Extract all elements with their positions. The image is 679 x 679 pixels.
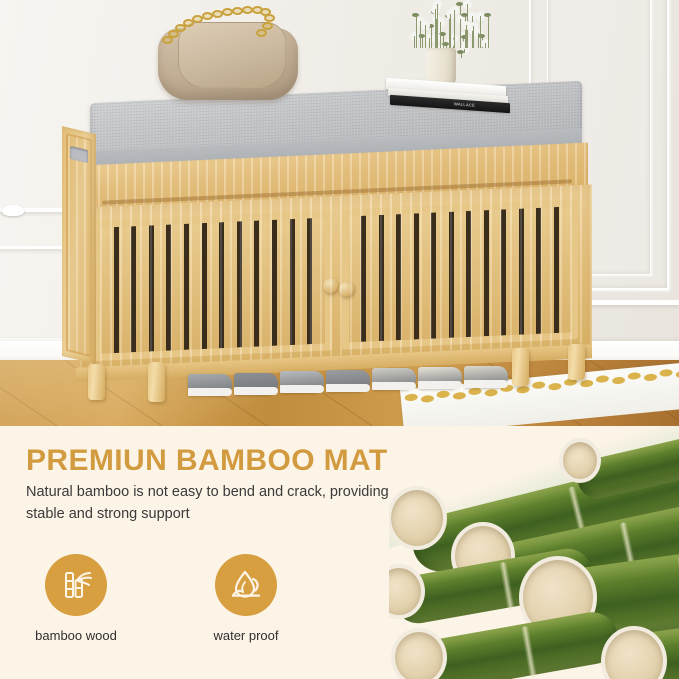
- product-marketing-image: WALLACE PREMIUN BAMBOO MATERIAL Natural …: [0, 0, 679, 679]
- rug-accent: [596, 375, 610, 383]
- door-slat-gap: [254, 220, 259, 346]
- panel-subtext: Natural bamboo is not easy to bend and c…: [26, 482, 426, 526]
- vase-and-books: WALLACE: [378, 0, 528, 115]
- product-lifestyle-photo: WALLACE: [0, 0, 679, 426]
- door-slat-gap: [361, 216, 366, 342]
- door-slat-gap: [431, 212, 436, 338]
- flower-stem: [454, 10, 455, 48]
- rug-accent: [644, 373, 658, 381]
- shoe: [326, 370, 370, 392]
- shoe-sole: [464, 380, 508, 388]
- cut-bamboo-poles-photo: [389, 426, 679, 679]
- door-slat: [259, 220, 272, 347]
- door-slat: [189, 223, 202, 350]
- bamboo-wood-badge: [45, 554, 107, 616]
- door-slat-gap: [554, 207, 559, 333]
- door-slat-gap: [466, 211, 471, 337]
- door-slat: [401, 213, 413, 340]
- shoe-sole: [234, 387, 278, 395]
- chain-link: [256, 29, 267, 37]
- door-slat: [489, 209, 501, 336]
- door-slat: [419, 213, 431, 340]
- door-slat-gap: [219, 222, 224, 348]
- door-slat: [207, 222, 220, 349]
- door-slat-gap: [414, 213, 419, 339]
- flower-stem: [425, 25, 426, 48]
- shoe: [464, 366, 508, 388]
- flower-stem: [466, 25, 467, 48]
- door-slat: [541, 207, 553, 334]
- flower-stem: [450, 14, 451, 48]
- door-slat-gap: [290, 219, 295, 345]
- flower-stem: [485, 43, 486, 48]
- feature-bamboo-wood: bamboo wood: [26, 554, 126, 664]
- door-slat: [136, 225, 149, 352]
- shoe-sole: [326, 384, 370, 392]
- flower-stem: [480, 16, 481, 48]
- flower-stem: [416, 17, 417, 48]
- flower-vase: [426, 48, 456, 84]
- feature-badges: bamboo wood water proof: [26, 554, 326, 664]
- door-slat-gap: [202, 223, 207, 349]
- bamboo-pole-open-end: [389, 486, 447, 550]
- door-slat-gap: [149, 225, 154, 351]
- flower-stem: [420, 21, 421, 48]
- door-slat-gap: [536, 208, 541, 334]
- flower-stem: [488, 17, 489, 48]
- cabinet-door-right: [342, 199, 578, 350]
- bench-side-panel: [62, 126, 96, 364]
- shoe: [280, 371, 324, 393]
- door-slat-gap: [519, 208, 524, 334]
- flower-stem: [473, 26, 474, 48]
- feature-label: bamboo wood: [26, 628, 126, 643]
- bamboo-pole-open-end: [559, 438, 601, 483]
- water-proof-badge: [215, 554, 277, 616]
- bench-leg: [148, 362, 165, 402]
- feature-panel: PREMIUN BAMBOO MATERIAL Natural bamboo i…: [0, 426, 679, 679]
- door-slat: [524, 208, 536, 335]
- handbag: [152, 2, 302, 107]
- rug-accent: [453, 392, 467, 400]
- flower-stem: [431, 28, 432, 48]
- bamboo-pole-open-end: [391, 628, 447, 679]
- flower-stem: [437, 4, 438, 48]
- rug-accent: [612, 376, 626, 384]
- door-slat: [349, 216, 361, 343]
- door-slat-gap: [379, 215, 384, 341]
- door-slat: [366, 215, 378, 342]
- door-slat: [312, 218, 325, 345]
- door-slat-gap: [396, 214, 401, 340]
- flower-stem: [435, 9, 436, 48]
- door-slat-gap: [166, 224, 171, 350]
- door-slat: [224, 222, 237, 349]
- wall-hook: [2, 205, 24, 216]
- door-slat-gap: [272, 220, 277, 346]
- door-slat: [277, 219, 290, 346]
- shoe: [418, 367, 462, 389]
- door-slat: [171, 224, 184, 351]
- door-slat-gap: [237, 221, 242, 347]
- door-slat-gap: [184, 224, 189, 350]
- flower-stem: [422, 38, 423, 48]
- shoe: [372, 368, 416, 390]
- door-slat: [471, 210, 483, 337]
- shoe: [234, 373, 278, 395]
- bench-leg: [568, 344, 585, 380]
- feature-water-proof: water proof: [196, 554, 296, 664]
- rug-accent: [421, 395, 435, 403]
- cabinet-door-left: [94, 210, 332, 361]
- door-slat: [119, 226, 132, 353]
- door-slat-gap: [484, 210, 489, 336]
- shoe-sole: [372, 382, 416, 390]
- flower-stem: [440, 22, 441, 48]
- door-slat: [295, 218, 308, 345]
- flower-stem: [414, 36, 415, 48]
- door-slat: [506, 209, 518, 336]
- flower-stem: [464, 49, 465, 53]
- bench-leg: [512, 348, 529, 386]
- rug-accent: [659, 369, 673, 377]
- chain-link: [264, 14, 275, 22]
- bamboo-stalk-icon: [59, 568, 93, 602]
- door-slat-gap: [449, 212, 454, 338]
- feature-label: water proof: [196, 628, 296, 643]
- shoe-sole: [418, 381, 462, 389]
- door-slat: [559, 206, 571, 333]
- door-slat: [436, 212, 448, 339]
- door-slat: [154, 225, 167, 352]
- door-slat-gap: [501, 209, 506, 335]
- door-slat-gap: [131, 226, 136, 352]
- handbag-chain-strap: [160, 2, 280, 62]
- door-slat: [454, 211, 466, 338]
- flower-stem: [443, 36, 444, 48]
- door-slat-gap: [114, 227, 119, 353]
- shoe: [188, 374, 232, 396]
- door-slat: [242, 221, 255, 348]
- rug-accent: [675, 370, 679, 378]
- bamboo-storage-bench: [62, 92, 582, 392]
- rug-accent: [627, 372, 641, 380]
- door-slat: [384, 214, 396, 341]
- water-drop-icon: [229, 568, 263, 602]
- door-slat-gap: [307, 218, 312, 344]
- bench-leg: [88, 364, 105, 400]
- door-slat: [101, 227, 114, 354]
- rug-accent: [404, 393, 418, 401]
- shoe-sole: [280, 385, 324, 393]
- shoe-sole: [188, 388, 232, 396]
- flower-stem: [461, 54, 462, 58]
- flower-stem: [460, 19, 461, 48]
- book-spine-text: WALLACE: [454, 101, 475, 107]
- door-knob-left: [323, 278, 338, 294]
- door-slats: [349, 206, 571, 342]
- door-slats: [101, 217, 325, 353]
- door-knob-right: [339, 281, 354, 297]
